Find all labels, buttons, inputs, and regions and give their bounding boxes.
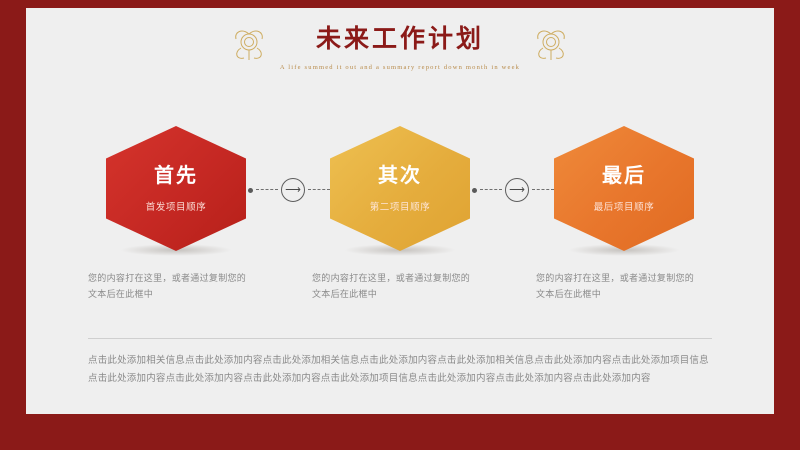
step-hexagon-1[interactable]: 首先 首发项目顺序 [106,126,246,251]
slide-header: 未来工作计划 A life summed it out and a summar… [26,22,774,73]
connector-dot-left-2 [472,188,477,193]
step-title-2: 其次 [378,164,422,188]
connector-dot-left-1 [248,188,253,193]
step-description-1: 您的内容打在这里，或者通过复制您的文本后在此框中 [88,270,248,302]
step-item-3[interactable]: 最后 最后项目顺序 [554,126,694,251]
footer-paragraph: 点击此处添加相关信息点击此处添加内容点击此处添加相关信息点击此处添加内容点击此处… [88,352,714,388]
footer-divider [88,338,712,339]
descriptions-row: 您的内容打在这里，或者通过复制您的文本后在此框中 您的内容打在这里，或者通过复制… [26,270,774,330]
connector-dash-right-1 [308,189,330,191]
connector-1: ⟶ [248,180,338,200]
page-subtitle: A life summed it out and a summary repor… [26,63,774,73]
slide-root: 未来工作计划 A life summed it out and a summar… [0,0,800,450]
frame-top-bar [0,0,800,8]
connector-dash-right-2 [532,189,554,191]
connector-2: ⟶ [472,180,562,200]
connector-dash-left-1 [256,189,278,191]
step-title-3: 最后 [602,164,646,188]
arrow-right-circle-icon-1: ⟶ [281,178,305,202]
page-title: 未来工作计划 [26,22,774,56]
step-title-1: 首先 [154,164,198,188]
slide-content-area: 未来工作计划 A life summed it out and a summar… [26,8,774,414]
step-item-1[interactable]: 首先 首发项目顺序 [106,126,246,251]
step-item-2[interactable]: 其次 第二项目顺序 [330,126,470,251]
step-subtitle-1: 首发项目顺序 [146,199,207,213]
step-subtitle-2: 第二项目顺序 [370,199,431,213]
step-hexagon-2[interactable]: 其次 第二项目顺序 [330,126,470,251]
steps-row: 首先 首发项目顺序 ⟶ 其次 第二项目顺序 [26,126,774,256]
step-description-3: 您的内容打在这里，或者通过复制您的文本后在此框中 [536,270,696,302]
frame-left-bar [0,0,26,450]
frame-bottom-bar [0,414,800,450]
frame-right-bar [774,0,800,450]
step-hexagon-3[interactable]: 最后 最后项目顺序 [554,126,694,251]
arrow-right-circle-icon-2: ⟶ [505,178,529,202]
connector-dash-left-2 [480,189,502,191]
step-subtitle-3: 最后项目顺序 [594,199,655,213]
step-description-2: 您的内容打在这里，或者通过复制您的文本后在此框中 [312,270,472,302]
